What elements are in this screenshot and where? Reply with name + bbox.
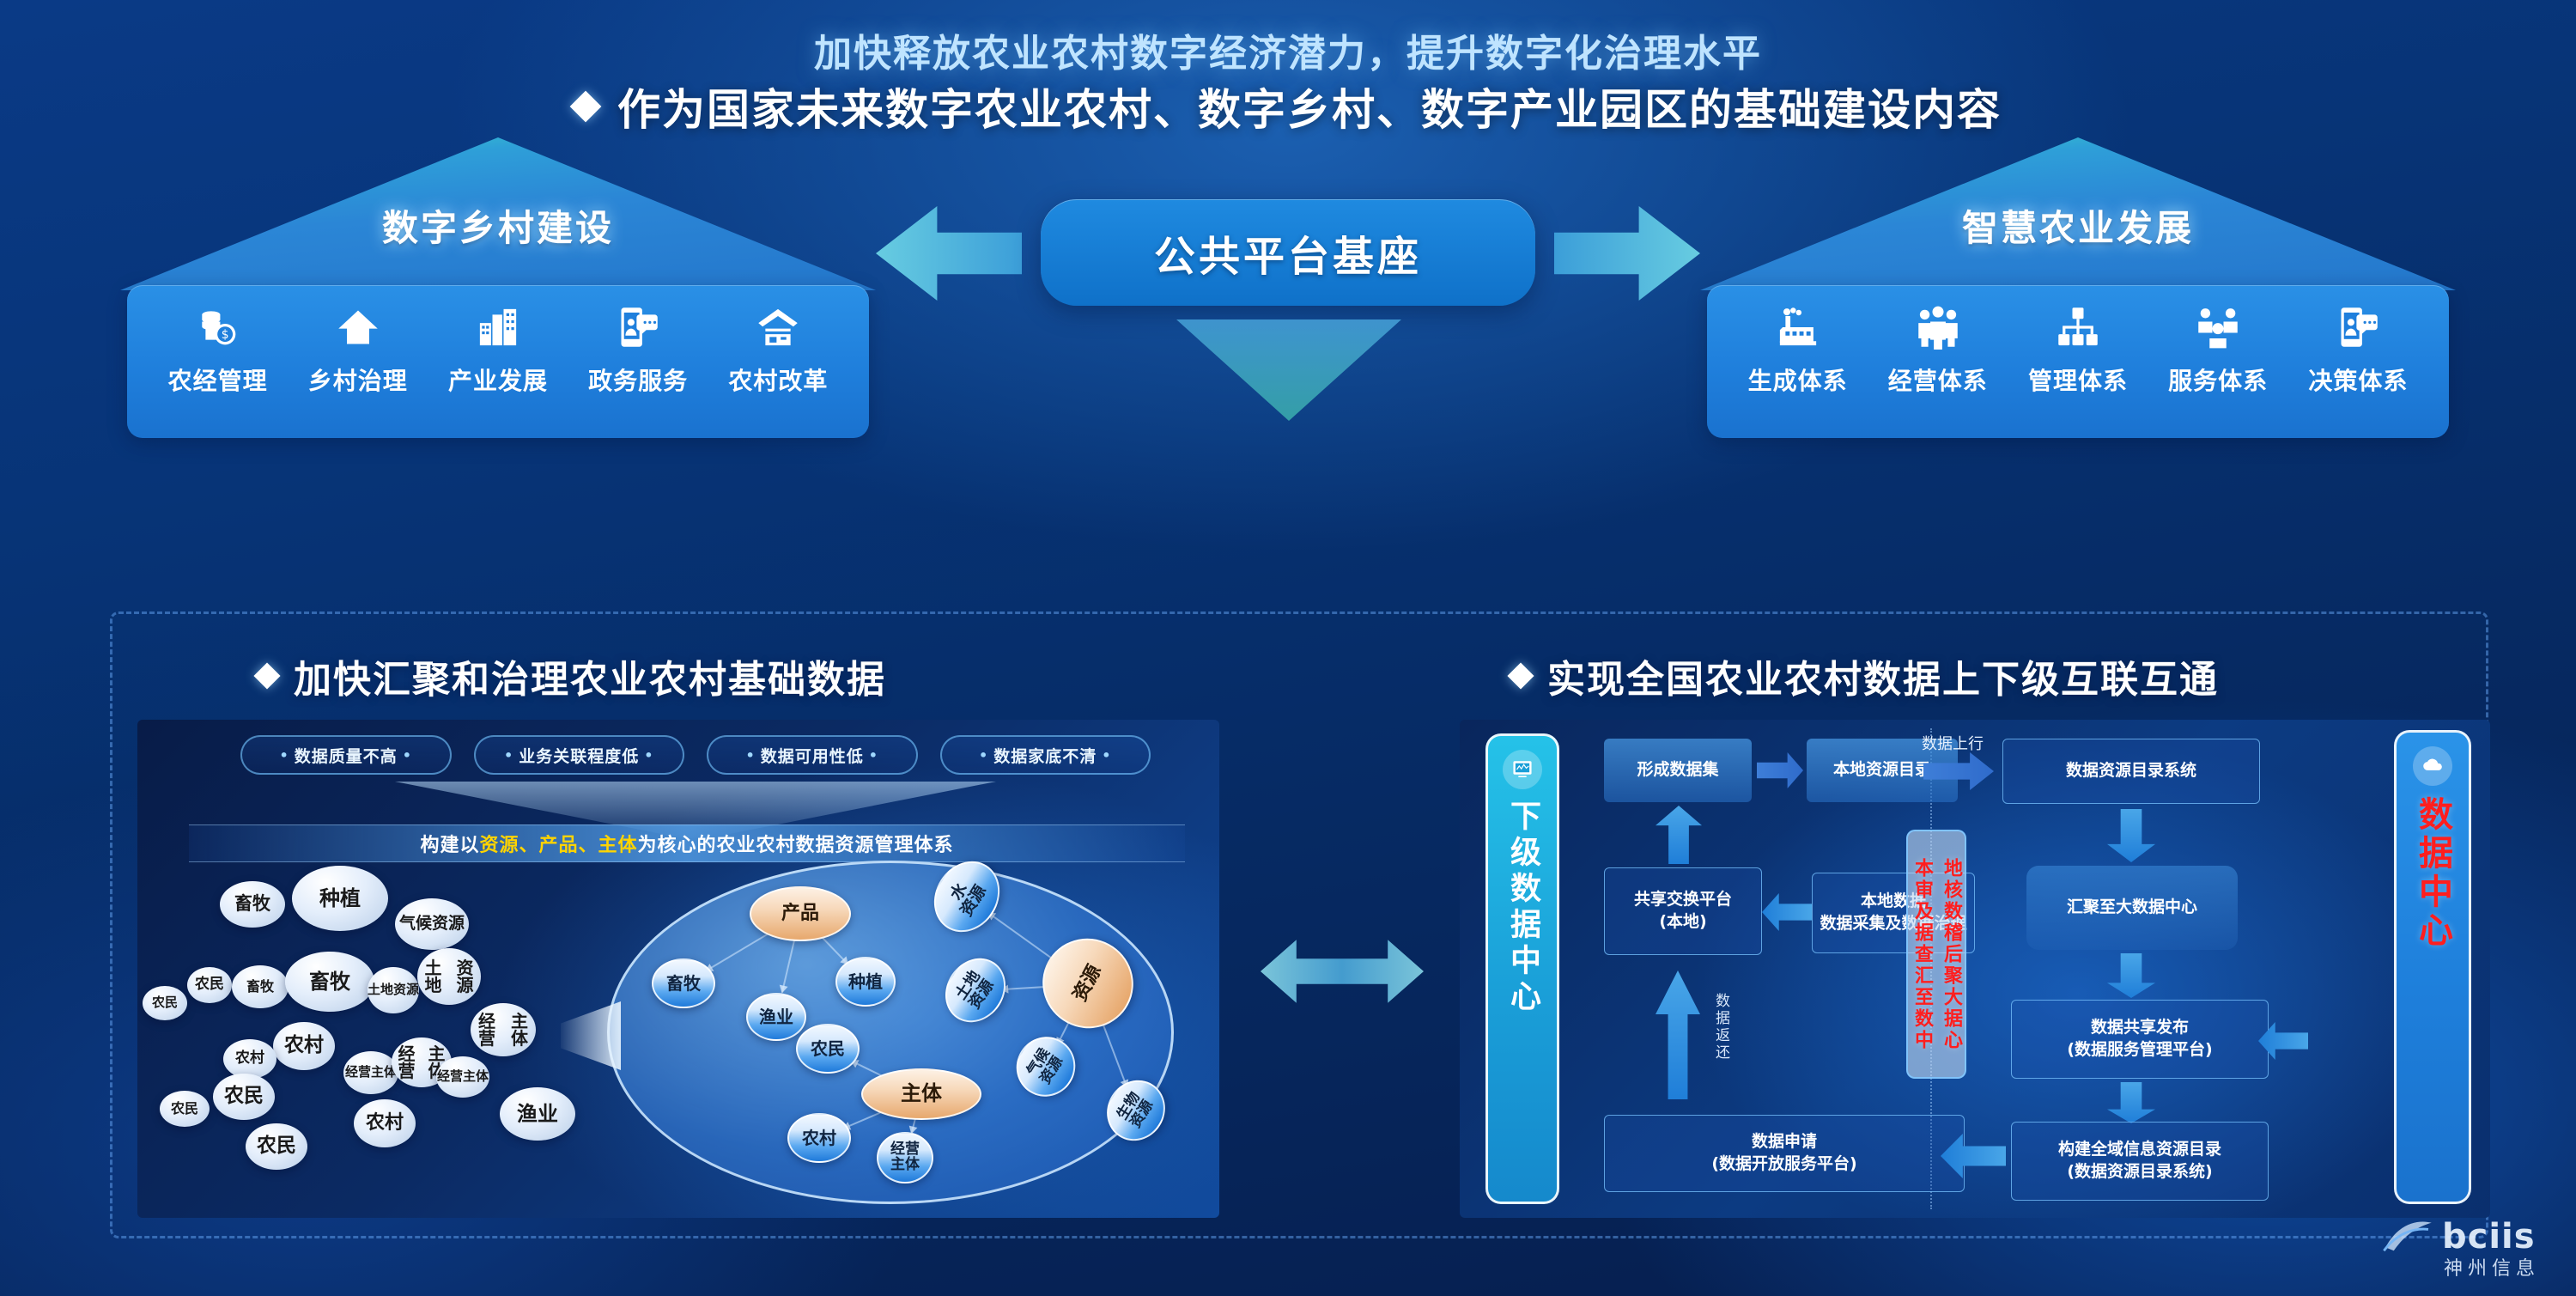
data-bubble: 农民 <box>143 986 187 1020</box>
house-right-title: 智慧农业发展 <box>1700 199 2456 252</box>
factory-icon <box>1733 301 1863 354</box>
box-share-platform-line1: 共享交换平台 <box>1634 889 1732 911</box>
right-panel-interconnect: 下级数据中心 数据中心 形成数据集 本地资源目录 共享交换平台 (本地) 本地数… <box>1460 720 2490 1218</box>
feature-label: 经营体系 <box>1873 362 2003 397</box>
org-chart-icon <box>2013 301 2143 354</box>
banner-prefix: 构建以 <box>420 830 479 857</box>
house-right-icon-row: 生成体系 经营体系 管理体系 <box>1707 301 2449 429</box>
feature-zhengwu-fuwu[interactable]: 政务服务 <box>573 301 703 397</box>
diamond-bullet-icon <box>570 91 602 123</box>
feature-nongcun-gaige[interactable]: 农村改革 <box>713 301 843 397</box>
data-bubble: 农民 <box>213 1074 275 1120</box>
data-bubble: 畜牧 <box>285 952 374 1012</box>
box-build-catalog-line1: 构建全域信息资源目录 <box>2058 1139 2221 1161</box>
mobile-decision-icon <box>2293 301 2423 354</box>
feature-guanli-tixi[interactable]: 管理体系 <box>2013 301 2143 397</box>
box-aggregate-center[interactable]: 汇聚至大数据中心 <box>2026 866 2238 950</box>
left-panel-heading: 加快汇聚和治理农业农村基础数据 <box>258 648 886 703</box>
model-node: 农民 <box>796 1024 860 1074</box>
uplink-label: 数据上行 <box>1922 732 1984 754</box>
model-node: 主体 <box>861 1068 981 1120</box>
box-share-publish-line1: 数据共享发布 <box>2091 1017 2189 1039</box>
issue-pill[interactable]: 数据质量不高 <box>240 735 452 775</box>
house-left-icon-row: $ 农经管理 乡村治理 产业发展 <box>127 301 869 429</box>
feature-nongjing-guanli[interactable]: $ 农经管理 <box>153 301 283 397</box>
data-bubble: 畜牧 <box>220 881 285 928</box>
center-platform-label: 公共平台基座 <box>1154 222 1422 283</box>
data-center-label: 数据中心 <box>2408 796 2458 951</box>
diamond-bullet-icon <box>1507 662 1534 689</box>
lower-data-center-bar[interactable]: 下级数据中心 <box>1485 733 1559 1204</box>
mobile-service-icon <box>573 301 703 354</box>
left-panel-heading-text: 加快汇聚和治理农业农村基础数据 <box>294 648 886 703</box>
issue-pill[interactable]: 数据可用性低 <box>707 735 918 775</box>
issue-pill[interactable]: 数据家底不清 <box>940 735 1151 775</box>
lower-data-center-label: 下级数据中心 <box>1500 800 1545 1016</box>
monitor-chart-icon <box>1503 750 1542 789</box>
company-logo: bciis 神州信息 <box>2382 1217 2540 1281</box>
model-node: 产品 <box>750 886 851 941</box>
issue-pill-row: 数据质量不高 业务关联程度低 数据可用性低 数据家底不清 <box>240 735 1151 775</box>
house-smart-agriculture: 智慧农业发展 生成体系 经营体系 <box>1700 137 2456 438</box>
house-digital-village: 数字乡村建设 $ 农经管理 乡村治理 <box>120 137 876 438</box>
data-bubble: 农村 <box>354 1099 416 1147</box>
red-note-col-right: 地核数稽后聚大据心 <box>1937 858 1965 1051</box>
model-node: 畜牧 <box>652 958 715 1008</box>
data-bubble: 农村 <box>273 1022 335 1070</box>
buildings-icon <box>433 301 563 354</box>
svg-text:$: $ <box>221 328 228 342</box>
house-icon <box>293 301 423 354</box>
arrow-right-icon <box>1554 206 1700 301</box>
house-right-body: 生成体系 经营体系 管理体系 <box>1707 285 2449 438</box>
house-left-body: $ 农经管理 乡村治理 产业发展 <box>127 285 869 438</box>
data-bubble: 畜牧 <box>232 965 289 1008</box>
logo-cn-name: 神州信息 <box>2444 1253 2540 1281</box>
model-node: 经营主体 <box>877 1132 933 1183</box>
data-bubble: 渔业 <box>500 1087 575 1141</box>
arrow-down-icon <box>2107 1082 2155 1123</box>
ordered-data-model: 产品水资源资源畜牧种植土地资源渔业农民气候资源主体生物资源农村经营主体 <box>588 849 1206 1218</box>
return-flow-label: 数据返还 <box>1710 993 1732 1062</box>
cloud-icon <box>2413 746 2452 786</box>
feature-jingying-tixi[interactable]: 经营体系 <box>1873 301 2003 397</box>
feature-label: 服务体系 <box>2153 362 2283 397</box>
data-bubble: 经营主体 <box>436 1056 489 1098</box>
box-share-publish-line2: (数据服务管理平台) <box>2067 1039 2212 1062</box>
house-left-title: 数字乡村建设 <box>120 199 876 252</box>
data-bubble: 土地资源 <box>368 967 419 1013</box>
box-form-dataset[interactable]: 形成数据集 <box>1604 739 1752 802</box>
box-build-catalog-line2: (数据资源目录系统) <box>2067 1161 2212 1183</box>
box-share-platform-line2: (本地) <box>1659 911 1706 934</box>
arrow-right-icon <box>1757 752 1803 788</box>
feature-chanye-fazhan[interactable]: 产业发展 <box>433 301 563 397</box>
data-bubble: 土地资源 <box>417 948 481 1005</box>
arrow-down-icon <box>2107 809 2155 862</box>
feature-label: 乡村治理 <box>293 362 423 397</box>
issue-pill[interactable]: 业务关联程度低 <box>474 735 685 775</box>
data-bubble: 农民 <box>246 1123 307 1170</box>
center-platform-base[interactable]: 公共平台基座 <box>1041 199 1535 306</box>
arrow-up-icon <box>1656 806 1702 864</box>
arrow-left-icon <box>876 206 1022 301</box>
feature-label: 农村改革 <box>713 362 843 397</box>
arrow-up-return-icon <box>1656 970 1700 1099</box>
feature-juece-tixi[interactable]: 决策体系 <box>2293 301 2423 397</box>
swoosh-icon <box>2382 1218 2435 1256</box>
feature-shengcheng-tixi[interactable]: 生成体系 <box>1733 301 1863 397</box>
red-note-col-left: 本审及据查汇至数中 <box>1908 858 1935 1051</box>
model-node: 种植 <box>835 957 896 1007</box>
data-center-bar[interactable]: 数据中心 <box>2394 730 2471 1204</box>
right-panel-heading-text: 实现全国农业农村数据上下级互联互通 <box>1547 648 2219 703</box>
data-bubble: 经营主体 <box>343 1051 398 1094</box>
data-bubble: 经营主体 <box>471 1003 536 1056</box>
data-bubble: 农村 <box>223 1039 276 1079</box>
feature-label: 农经管理 <box>153 362 283 397</box>
feature-label: 政务服务 <box>573 362 703 397</box>
feature-xiangcun-zhili[interactable]: 乡村治理 <box>293 301 423 397</box>
diamond-bullet-icon <box>253 662 280 689</box>
data-bubble: 农民 <box>160 1091 210 1127</box>
arrow-down-icon <box>2107 953 2155 998</box>
box-share-publish[interactable]: 数据共享发布 (数据服务管理平台) <box>2011 1000 2269 1079</box>
box-data-apply[interactable]: 数据申请 (数据开放服务平台) <box>1604 1115 1965 1192</box>
feature-label: 产业发展 <box>433 362 563 397</box>
right-panel-heading: 实现全国农业农村数据上下级互联互通 <box>1511 648 2219 703</box>
red-note-panel: 地核数稽后聚大据心 本审及据查汇至数中 <box>1906 830 1966 1079</box>
feature-label: 决策体系 <box>2293 362 2423 397</box>
model-node: 渔业 <box>746 993 806 1041</box>
people-service-icon <box>2153 301 2283 354</box>
box-catalog-system[interactable]: 数据资源目录系统 <box>2002 739 2260 804</box>
data-bubble: 气候资源 <box>395 898 469 950</box>
page-title: 加快释放农业农村数字经济潜力，提升数字化治理水平 <box>0 22 2576 77</box>
feature-label: 管理体系 <box>2013 362 2143 397</box>
arrow-down-icon <box>1176 319 1401 421</box>
data-bubble: 农民 <box>187 967 232 1003</box>
box-data-apply-line2: (数据开放服务平台) <box>1711 1153 1856 1176</box>
box-data-apply-line1: 数据申请 <box>1752 1131 1817 1153</box>
middle-section: 数字乡村建设 $ 农经管理 乡村治理 <box>0 129 2576 593</box>
village-house-icon <box>713 301 843 354</box>
feature-fuwu-tixi[interactable]: 服务体系 <box>2153 301 2283 397</box>
data-bubble: 种植 <box>292 866 388 931</box>
model-node: 农村 <box>787 1113 851 1163</box>
box-share-platform[interactable]: 共享交换平台 (本地) <box>1604 867 1762 955</box>
people-group-icon <box>1873 301 2003 354</box>
arrow-left-icon <box>1762 893 1812 931</box>
left-panel-data-governance: 数据质量不高 业务关联程度低 数据可用性低 数据家底不清 构建以资源、产品、主体… <box>137 720 1219 1218</box>
feature-label: 生成体系 <box>1733 362 1863 397</box>
logo-wordmark: bciis <box>2442 1217 2536 1256</box>
money-stack-icon: $ <box>153 301 283 354</box>
box-build-catalog[interactable]: 构建全域信息资源目录 (数据资源目录系统) <box>2011 1122 2269 1201</box>
unordered-bubble-cloud: 畜牧种植气候资源农民畜牧畜牧土地资源土地资源农民经营主体农村农村经营主体经营主体… <box>137 866 618 1218</box>
